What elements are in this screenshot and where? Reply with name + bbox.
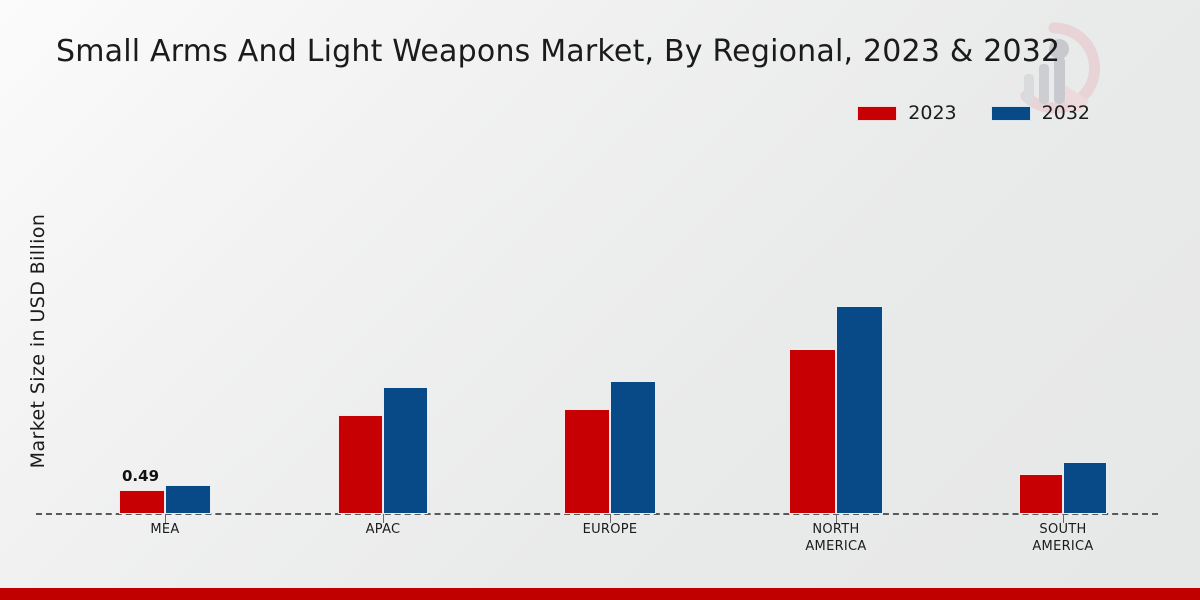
x-axis-label-south-america: SOUTH AMERICA xyxy=(983,521,1143,555)
x-axis-label-apac: APAC xyxy=(303,521,463,538)
bar-2023-north-america[interactable] xyxy=(789,349,836,514)
chart-container: Small Arms And Light Weapons Market, By … xyxy=(0,0,1200,600)
x-axis-label-mea: MEA xyxy=(85,521,245,538)
bar-2023-apac[interactable] xyxy=(338,415,383,514)
bar-2032-mea[interactable] xyxy=(165,485,211,514)
bar-2023-europe[interactable] xyxy=(564,409,610,514)
x-axis-label-europe: EUROPE xyxy=(530,521,690,538)
bar-2032-south-america[interactable] xyxy=(1063,462,1107,514)
bar-2032-north-america[interactable] xyxy=(836,306,883,514)
x-axis-label-north-america: NORTH AMERICA xyxy=(756,521,916,555)
footer-accent-band xyxy=(0,588,1200,600)
bar-value-label: 0.49 xyxy=(122,467,159,485)
bar-2032-europe[interactable] xyxy=(610,381,656,514)
bar-2032-apac[interactable] xyxy=(383,387,428,514)
plot-area: 0.49 MEAAPACEUROPENORTH AMERICASOUTH AME… xyxy=(0,0,1200,600)
bar-2023-south-america[interactable] xyxy=(1019,474,1063,514)
bar-2023-mea[interactable] xyxy=(119,490,165,514)
